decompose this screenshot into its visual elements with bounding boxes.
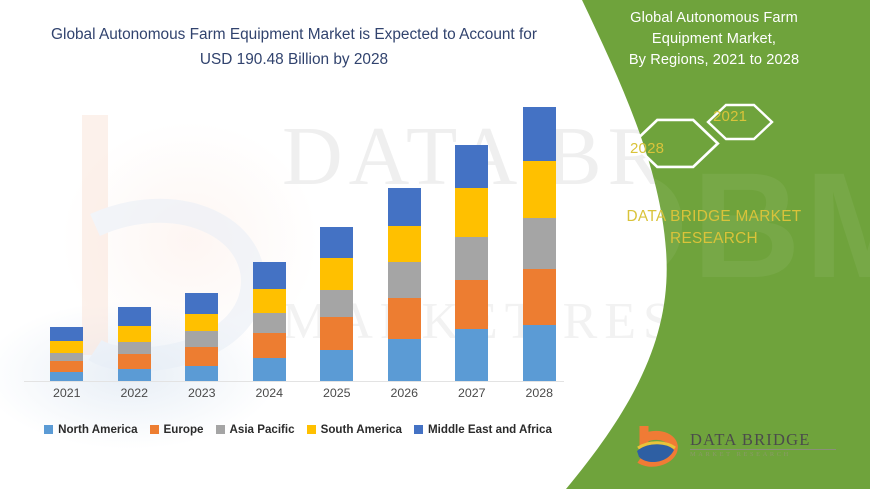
bar-2022[interactable] [118,307,151,381]
page-title-line2: USD 190.48 Billion by 2028 [24,47,564,72]
green-panel-title-line1: Global Autonomous Farm [570,8,858,29]
footer-logo: DATA BRIDGE MARKET RESEARCH [634,424,844,472]
bar-segment-2026-middle-east-and-africa[interactable] [388,188,421,226]
bar-segment-2021-asia-pacific[interactable] [50,353,83,362]
legend-label: Middle East and Africa [428,423,552,436]
green-panel-title: Global Autonomous Farm Equipment Market,… [570,8,858,71]
page-title-line1: Global Autonomous Farm Equipment Market … [24,22,564,47]
bar-segment-2026-europe[interactable] [388,298,421,339]
bar-segment-2027-asia-pacific[interactable] [455,237,488,280]
bar-segment-2022-south-america[interactable] [118,326,151,342]
bar-segment-2028-asia-pacific[interactable] [523,218,556,269]
x-axis-label-2025: 2025 [307,386,367,400]
bar-segment-2026-south-america[interactable] [388,226,421,262]
legend-item-north-america[interactable]: North America [44,423,137,436]
bar-segment-2024-north-america[interactable] [253,358,286,381]
green-panel-content: DBMR Global Autonomous Farm Equipment Ma… [570,0,870,489]
bar-segment-2025-middle-east-and-africa[interactable] [320,227,353,258]
legend-swatch-icon [414,425,423,434]
bar-segment-2023-north-america[interactable] [185,366,218,381]
x-axis-label-2027: 2027 [442,386,502,400]
x-axis-labels: 20212022202320242025202620272028 [24,386,564,406]
green-panel-title-line3: By Regions, 2021 to 2028 [570,50,858,71]
legend-swatch-icon [216,425,225,434]
stacked-bar-chart [24,100,564,382]
legend-swatch-icon [44,425,53,434]
footer-logo-tagline: MARKET RESEARCH [690,451,791,458]
brand-line-2: RESEARCH [570,228,858,250]
bar-segment-2028-north-america[interactable] [523,325,556,381]
legend-item-middle-east-and-africa[interactable]: Middle East and Africa [414,423,552,436]
bar-segment-2022-north-america[interactable] [118,369,151,381]
legend-label: North America [58,423,137,436]
bar-segment-2027-europe[interactable] [455,280,488,329]
bar-segment-2023-asia-pacific[interactable] [185,331,218,347]
legend-swatch-icon [150,425,159,434]
legend-item-south-america[interactable]: South America [307,423,402,436]
x-axis-label-2028: 2028 [509,386,569,400]
bar-segment-2021-europe[interactable] [50,361,83,372]
x-axis-label-2022: 2022 [104,386,164,400]
hexagon-label-2028: 2028 [630,140,664,157]
legend-item-asia-pacific[interactable]: Asia Pacific [216,423,295,436]
bar-segment-2024-middle-east-and-africa[interactable] [253,262,286,289]
hexagon-year-badges: 2028 2021 [608,96,838,188]
bar-segment-2028-south-america[interactable] [523,161,556,218]
bar-2025[interactable] [320,227,353,381]
data-bridge-logo-icon [634,424,682,470]
bar-2023[interactable] [185,293,218,381]
hexagon-label-2021: 2021 [713,108,747,125]
bar-segment-2023-middle-east-and-africa[interactable] [185,293,218,314]
bar-segment-2027-middle-east-and-africa[interactable] [455,145,488,188]
bar-segment-2022-europe[interactable] [118,354,151,369]
bar-2021[interactable] [50,327,83,381]
brand-line-1: DATA BRIDGE MARKET [570,206,858,228]
bar-segment-2025-south-america[interactable] [320,258,353,289]
footer-logo-divider [690,449,836,450]
bar-segment-2024-europe[interactable] [253,333,286,358]
bar-segment-2021-middle-east-and-africa[interactable] [50,327,83,341]
legend-label: South America [321,423,402,436]
infographic-canvas: DATA BR MARKET RESEARCH DBMR Global Auto… [0,0,870,489]
legend-label: Asia Pacific [230,423,295,436]
chart-legend: North AmericaEuropeAsia PacificSouth Ame… [24,418,572,440]
bar-segment-2024-south-america[interactable] [253,289,286,313]
legend-label: Europe [164,423,204,436]
bar-2026[interactable] [388,188,421,381]
x-axis-label-2026: 2026 [374,386,434,400]
bar-segment-2023-europe[interactable] [185,347,218,365]
bar-segment-2021-south-america[interactable] [50,341,83,353]
bar-segment-2028-middle-east-and-africa[interactable] [523,107,556,161]
bar-segment-2022-asia-pacific[interactable] [118,342,151,354]
bar-2027[interactable] [455,145,488,381]
bar-segment-2021-north-america[interactable] [50,372,83,381]
bar-segment-2025-north-america[interactable] [320,350,353,381]
bar-segment-2026-north-america[interactable] [388,339,421,381]
bar-segment-2025-europe[interactable] [320,317,353,350]
footer-logo-name: DATA BRIDGE [690,430,811,450]
chart-baseline [24,381,564,382]
bar-segment-2025-asia-pacific[interactable] [320,290,353,317]
bar-segment-2023-south-america[interactable] [185,314,218,331]
bar-segment-2028-europe[interactable] [523,269,556,324]
bar-2024[interactable] [253,262,286,381]
bar-segment-2027-north-america[interactable] [455,329,488,381]
legend-swatch-icon [307,425,316,434]
x-axis-label-2024: 2024 [239,386,299,400]
green-panel-title-line2: Equipment Market, [570,29,858,50]
page-title: Global Autonomous Farm Equipment Market … [24,22,564,72]
bar-segment-2027-south-america[interactable] [455,188,488,237]
legend-item-europe[interactable]: Europe [150,423,204,436]
bar-2028[interactable] [523,107,556,381]
x-axis-label-2023: 2023 [172,386,232,400]
bar-segment-2026-asia-pacific[interactable] [388,262,421,298]
x-axis-label-2021: 2021 [37,386,97,400]
bar-segment-2024-asia-pacific[interactable] [253,313,286,334]
green-panel-brand: DATA BRIDGE MARKET RESEARCH [570,206,858,250]
bar-segment-2022-middle-east-and-africa[interactable] [118,307,151,325]
